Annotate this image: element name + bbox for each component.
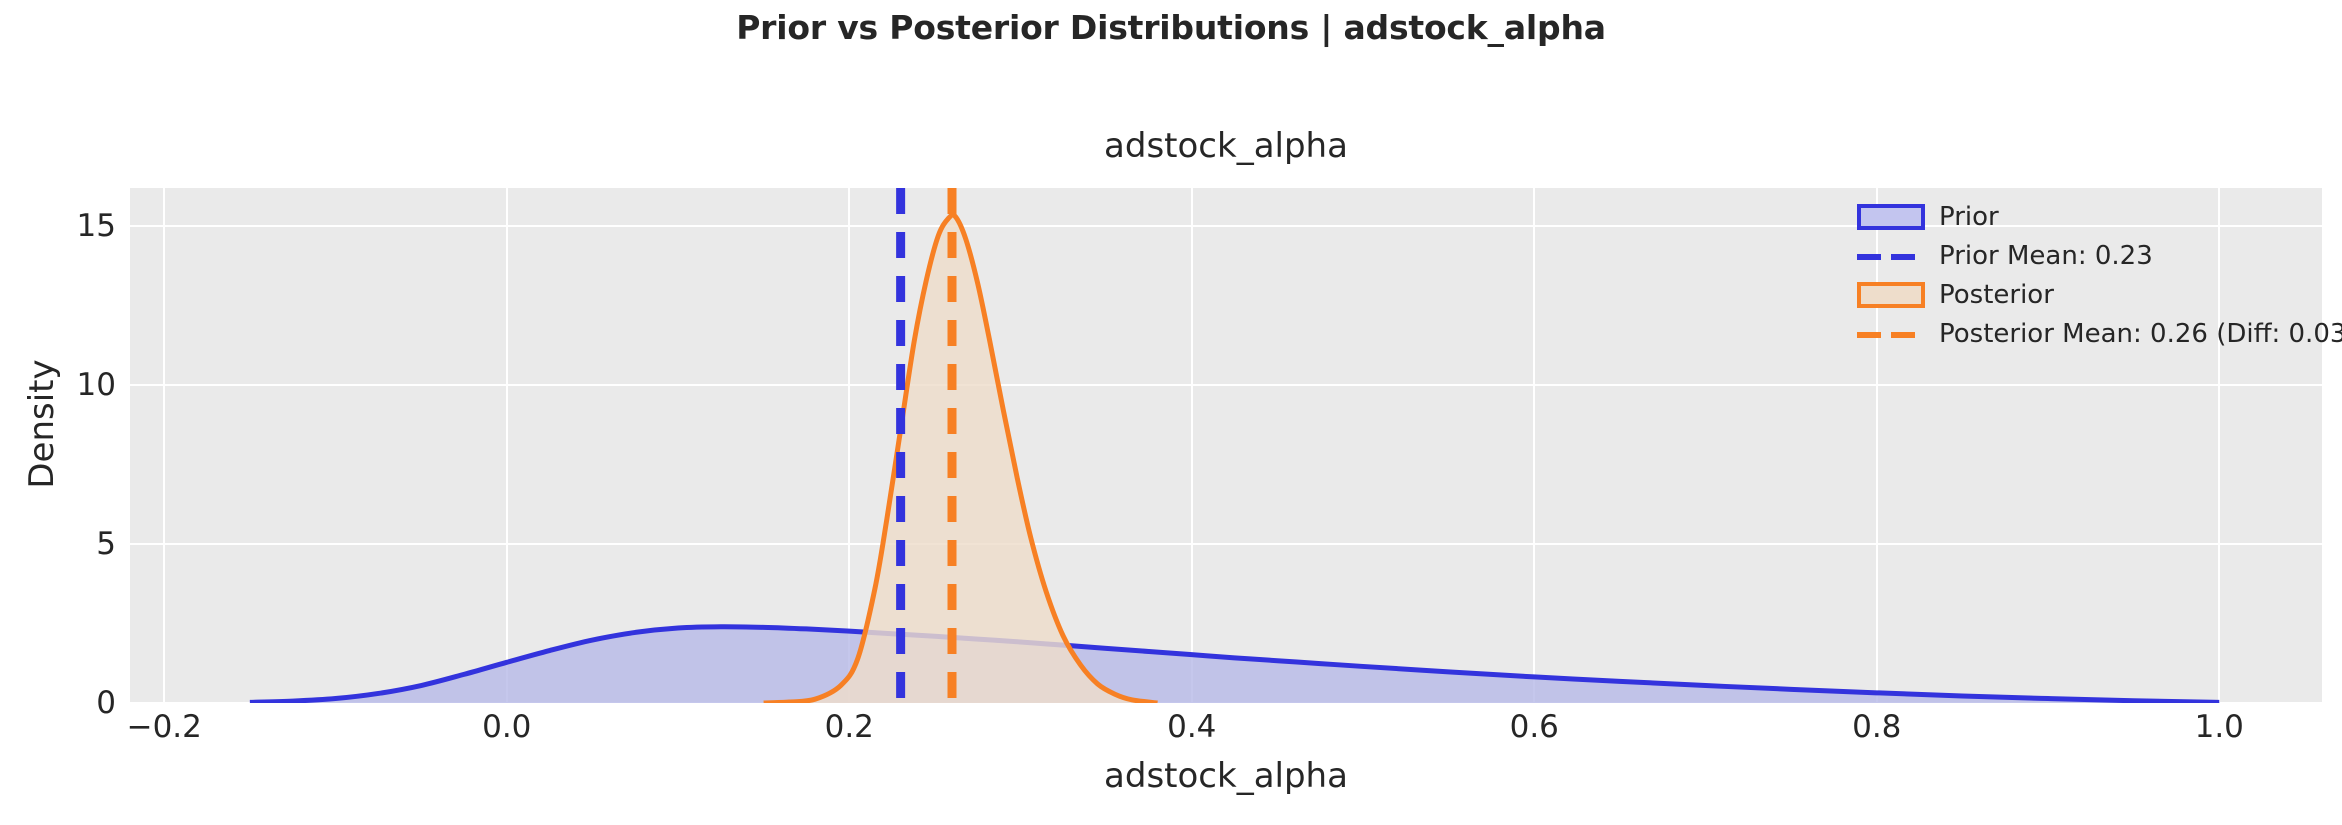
legend-item[interactable]: Prior Mean: 0.23 bbox=[1857, 239, 2342, 272]
legend-item-label: Posterior Mean: 0.26 (Diff: 0.03) bbox=[1939, 319, 2342, 349]
legend-item[interactable]: Posterior Mean: 0.26 (Diff: 0.03) bbox=[1857, 317, 2342, 350]
x-tick-label: 1.0 bbox=[2119, 709, 2319, 745]
legend[interactable]: PriorPrior Mean: 0.23PosteriorPosterior … bbox=[1855, 196, 2342, 354]
prior-density-area bbox=[250, 627, 2219, 703]
legend-item[interactable]: Posterior bbox=[1857, 278, 2342, 311]
x-tick-label: 0.0 bbox=[407, 709, 607, 745]
legend-item-label: Prior Mean: 0.23 bbox=[1939, 241, 2153, 271]
x-tick-label: 0.2 bbox=[749, 709, 949, 745]
x-axis-label: adstock_alpha bbox=[130, 756, 2322, 796]
figure-suptitle: Prior vs Posterior Distributions | adsto… bbox=[0, 8, 2342, 47]
legend-swatch bbox=[1857, 282, 1925, 308]
legend-dash bbox=[1857, 332, 1925, 338]
legend-item-label: Prior bbox=[1939, 202, 1999, 232]
x-tick-label: −0.2 bbox=[64, 709, 264, 745]
x-tick-label: 0.8 bbox=[1777, 709, 1977, 745]
legend-patch-icon bbox=[1857, 282, 1925, 308]
x-tick-label: 0.6 bbox=[1434, 709, 1634, 745]
legend-patch-icon bbox=[1857, 204, 1925, 230]
legend-dash bbox=[1857, 254, 1925, 260]
legend-dashed-line-icon bbox=[1857, 243, 1925, 269]
x-tick-label: 0.4 bbox=[1092, 709, 1292, 745]
y-tick-label: 10 bbox=[16, 367, 116, 403]
y-tick-label: 15 bbox=[16, 208, 116, 244]
axes-title: adstock_alpha bbox=[130, 126, 2322, 166]
figure-canvas: Prior vs Posterior Distributions | adsto… bbox=[0, 0, 2342, 825]
legend-item[interactable]: Prior bbox=[1857, 200, 2342, 233]
y-tick-label: 5 bbox=[16, 526, 116, 562]
legend-item-label: Posterior bbox=[1939, 280, 2054, 310]
legend-dashed-line-icon bbox=[1857, 321, 1925, 347]
legend-swatch bbox=[1857, 204, 1925, 230]
